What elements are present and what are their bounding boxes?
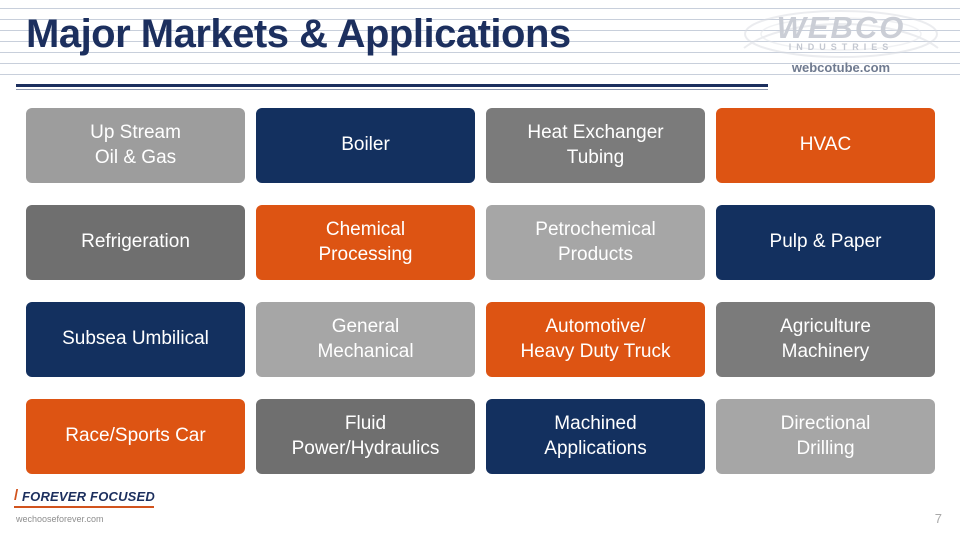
- market-cell[interactable]: Chemical Processing: [256, 205, 475, 280]
- market-cell[interactable]: HVAC: [716, 108, 935, 183]
- footer-slash: /: [14, 487, 18, 504]
- market-cell[interactable]: General Mechanical: [256, 302, 475, 377]
- market-cell[interactable]: Petrochemical Products: [486, 205, 705, 280]
- market-cell[interactable]: Agriculture Machinery: [716, 302, 935, 377]
- title-underline: [16, 84, 768, 87]
- market-cell[interactable]: Boiler: [256, 108, 475, 183]
- market-cell[interactable]: Machined Applications: [486, 399, 705, 474]
- markets-grid: Up Stream Oil & GasBoilerHeat Exchanger …: [26, 108, 934, 474]
- webco-logo: WEBCO INDUSTRIES webcotube.com: [736, 8, 946, 94]
- market-cell[interactable]: Directional Drilling: [716, 399, 935, 474]
- market-cell[interactable]: Race/Sports Car: [26, 399, 245, 474]
- footer-mark: FOREVER FOCUSED: [22, 489, 155, 504]
- logo-subtitle: INDUSTRIES: [736, 42, 946, 52]
- market-cell[interactable]: Heat Exchanger Tubing: [486, 108, 705, 183]
- page-number: 7: [935, 511, 942, 526]
- market-cell[interactable]: Pulp & Paper: [716, 205, 935, 280]
- market-cell[interactable]: Refrigeration: [26, 205, 245, 280]
- market-cell[interactable]: Automotive/ Heavy Duty Truck: [486, 302, 705, 377]
- logo-url: webcotube.com: [736, 60, 946, 75]
- footer-rule: [14, 506, 154, 508]
- slide: Major Markets & Applications WEBCO INDUS…: [0, 0, 960, 540]
- logo-wordmark: WEBCO: [736, 10, 946, 46]
- title-underline-thin: [16, 89, 768, 90]
- market-cell[interactable]: Up Stream Oil & Gas: [26, 108, 245, 183]
- market-cell[interactable]: Subsea Umbilical: [26, 302, 245, 377]
- market-cell[interactable]: Fluid Power/Hydraulics: [256, 399, 475, 474]
- footer-tagline: wechooseforever.com: [16, 514, 104, 524]
- page-title: Major Markets & Applications: [26, 12, 571, 57]
